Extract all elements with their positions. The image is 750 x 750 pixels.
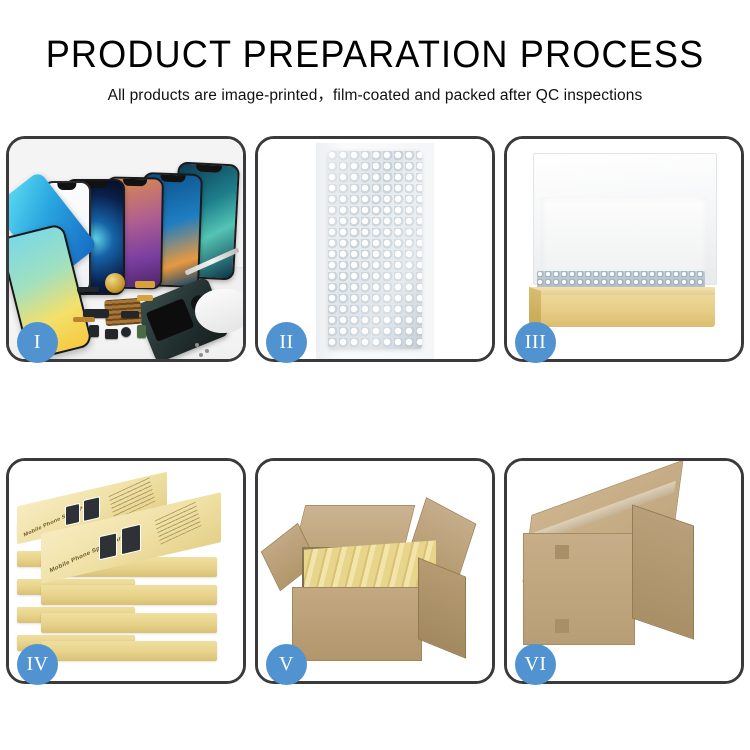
step-panel-3: III xyxy=(504,136,744,362)
carton-front xyxy=(292,587,422,661)
carton-seam xyxy=(555,545,569,559)
bubble-wrapped-product xyxy=(328,151,422,349)
box-product-thumbnail xyxy=(83,496,100,522)
box-front xyxy=(529,295,715,327)
retail-box xyxy=(41,641,217,661)
step-panel-2: II xyxy=(255,136,495,362)
box-product-thumbnail xyxy=(121,524,141,556)
step-badge-1: I xyxy=(17,322,58,363)
screw xyxy=(205,349,209,353)
step-badge-5: V xyxy=(266,644,307,685)
screw xyxy=(199,353,203,357)
screw xyxy=(195,343,199,347)
page-header: PRODUCT PREPARATION PROCESS All products… xyxy=(0,0,750,106)
small-part xyxy=(105,329,118,339)
phone-notch xyxy=(160,175,185,183)
phone-notch xyxy=(123,179,147,186)
speaker-component xyxy=(105,273,125,293)
carton-front xyxy=(523,533,635,645)
small-part xyxy=(137,325,146,338)
flex-cable xyxy=(137,295,153,301)
box-product-thumbnail xyxy=(99,532,117,560)
step-badge-2: II xyxy=(266,322,307,363)
small-part xyxy=(121,327,131,337)
carton-side xyxy=(632,504,694,639)
step-badge-4: IV xyxy=(17,644,58,685)
step-badge-3: III xyxy=(515,322,556,363)
small-part xyxy=(77,287,99,292)
box-spec-lines xyxy=(155,502,202,545)
step-panel-6: VI xyxy=(504,458,744,684)
phone-notch xyxy=(57,183,76,190)
page-subtitle: All products are image-printed，film-coat… xyxy=(0,76,750,106)
process-steps-grid: I II III xyxy=(6,136,744,684)
box-product-thumbnail xyxy=(65,503,80,526)
foam-sheet xyxy=(541,197,707,275)
flex-cable xyxy=(73,317,95,322)
hand xyxy=(195,289,243,333)
retail-box xyxy=(41,613,217,633)
step-panel-5: V xyxy=(255,458,495,684)
step-badge-6: VI xyxy=(515,644,556,685)
carton-seam xyxy=(555,619,569,633)
step-panel-4: Mobile Phone Spare Parts Mobile Phone Sp… xyxy=(6,458,246,684)
small-part xyxy=(121,311,139,318)
phone-notch xyxy=(196,164,222,172)
small-part xyxy=(89,325,99,337)
step-panel-1: I xyxy=(6,136,246,362)
flex-cable xyxy=(135,281,155,288)
retail-box xyxy=(41,585,217,605)
page-title: PRODUCT PREPARATION PROCESS xyxy=(19,0,732,76)
